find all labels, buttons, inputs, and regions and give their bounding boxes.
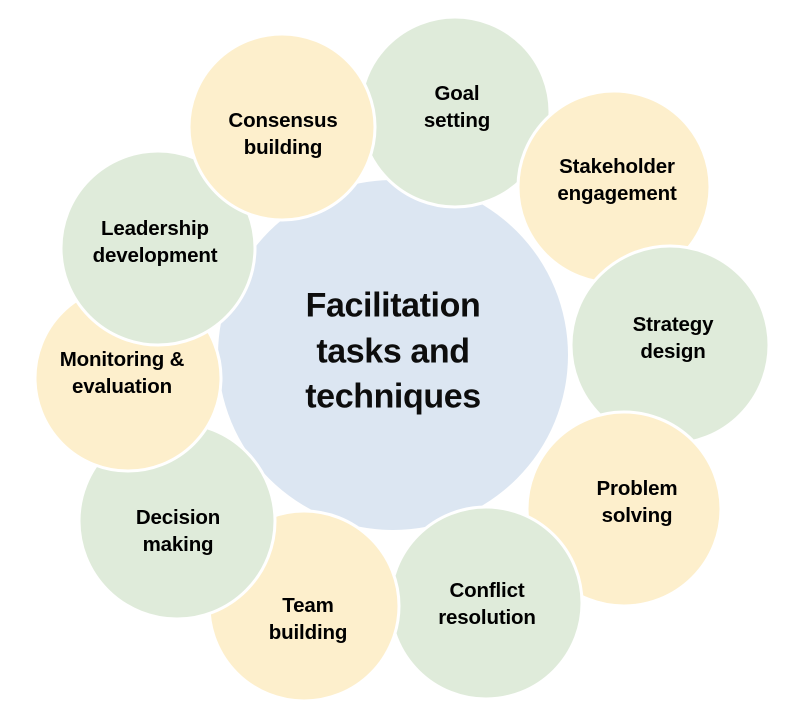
petal-circle-consensus-building[interactable] xyxy=(189,34,375,220)
center-circle xyxy=(218,180,568,530)
facilitation-petal-diagram: Facilitation tasks and techniques Goal s… xyxy=(0,0,796,715)
petal-circle-conflict-resolution[interactable] xyxy=(390,507,582,699)
petal-diagram-svg xyxy=(0,0,796,715)
